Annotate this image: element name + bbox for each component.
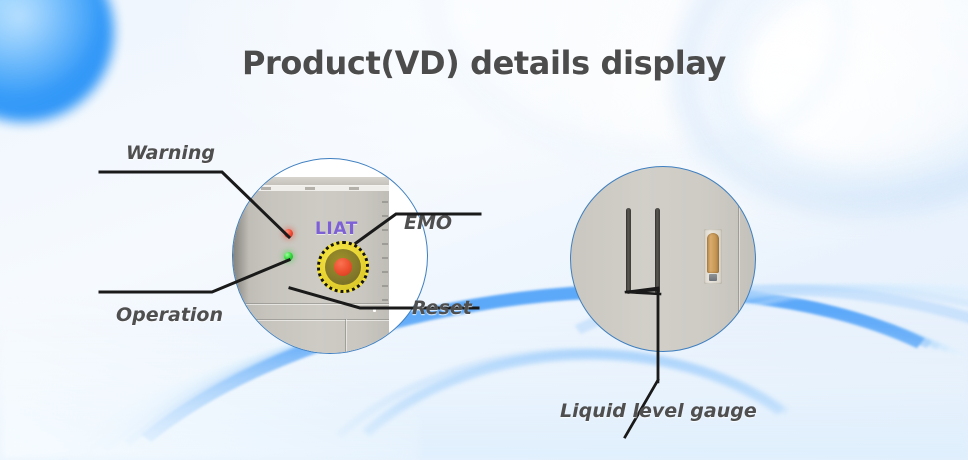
panel-seam-upper (233, 303, 389, 304)
reset-button[interactable] (233, 159, 244, 170)
panel-screw (373, 309, 376, 312)
background-swirl-d (409, 0, 867, 188)
panel-notch (349, 187, 359, 190)
liquid-level-rail-left (626, 208, 631, 294)
operation-led (284, 252, 293, 261)
panel-notch (305, 187, 315, 190)
label-operation: Operation (116, 304, 223, 326)
panel-left-shadow (233, 177, 249, 354)
brand-logo-liat: LIAT (315, 219, 358, 239)
panel-top-trim (233, 177, 389, 186)
label-reset: Reset (412, 297, 472, 319)
callout-circle-control-panel: LIAT (232, 158, 428, 354)
promotional-banner: Product(VD) details display LIAT (0, 0, 968, 460)
panel-notch (261, 187, 271, 190)
panel-seam-vertical (345, 319, 346, 354)
recessed-door-handle[interactable] (704, 229, 722, 284)
liquid-level-rail-right (655, 208, 660, 294)
panel-seam-right (738, 167, 739, 352)
handle-grip (707, 233, 719, 273)
background-ribbons (0, 230, 968, 460)
label-warning: Warning (126, 142, 215, 164)
emo-center-button (334, 258, 352, 276)
label-liquid-level-gauge: Liquid level gauge (560, 400, 757, 422)
background-swirl-c (709, 0, 968, 203)
callout-circle-liquid-gauge (570, 166, 756, 352)
page-title: Product(VD) details display (0, 44, 968, 82)
warning-led (284, 229, 293, 238)
panel-edge-slots (382, 201, 389, 311)
label-emo: EMO (404, 212, 452, 234)
panel-seam-lower (233, 319, 389, 320)
handle-latch-icon (709, 274, 717, 281)
emo-button[interactable] (317, 241, 369, 293)
